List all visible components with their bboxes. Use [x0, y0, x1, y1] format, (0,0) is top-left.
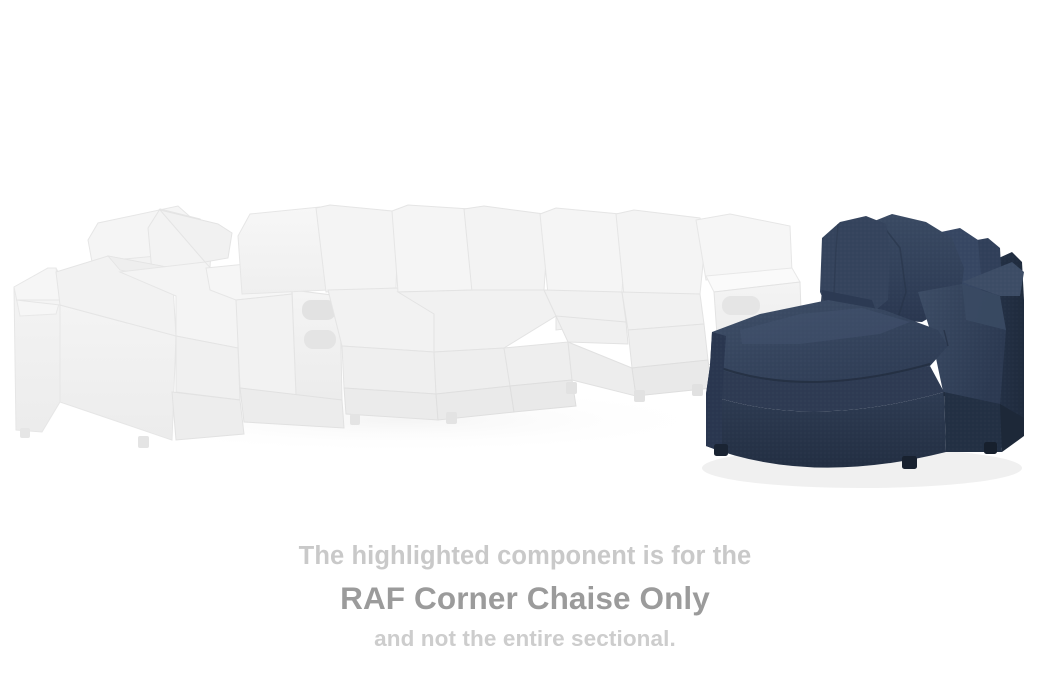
chaise-leg [902, 456, 917, 469]
cupholder-icon [722, 296, 760, 315]
cupholder-icon [304, 330, 336, 349]
ghost-leg [634, 390, 645, 402]
chaise-leg [714, 444, 728, 456]
ghost-leg [566, 382, 577, 394]
ghost-leg [350, 414, 360, 425]
caption-line-top: The highlighted component is for the [0, 540, 1050, 574]
ghost-leg [138, 436, 149, 448]
sectional-illustration [0, 0, 1050, 520]
chaise-leg [984, 442, 997, 454]
product-figure: The highlighted component is for the RAF… [0, 0, 1050, 700]
ghost-leg [20, 428, 30, 438]
ghost-module-laf-loveseat [14, 206, 244, 448]
caption-line-component-name: RAF Corner Chaise Only [0, 577, 1050, 619]
sectional-svg [0, 0, 1050, 520]
ghosted-sectional-group [14, 205, 804, 454]
caption-line-bottom: and not the entire sectional. [0, 624, 1050, 653]
caption-block: The highlighted component is for the RAF… [0, 540, 1050, 653]
ghost-leg [446, 412, 457, 424]
ghost-leg [692, 384, 703, 396]
